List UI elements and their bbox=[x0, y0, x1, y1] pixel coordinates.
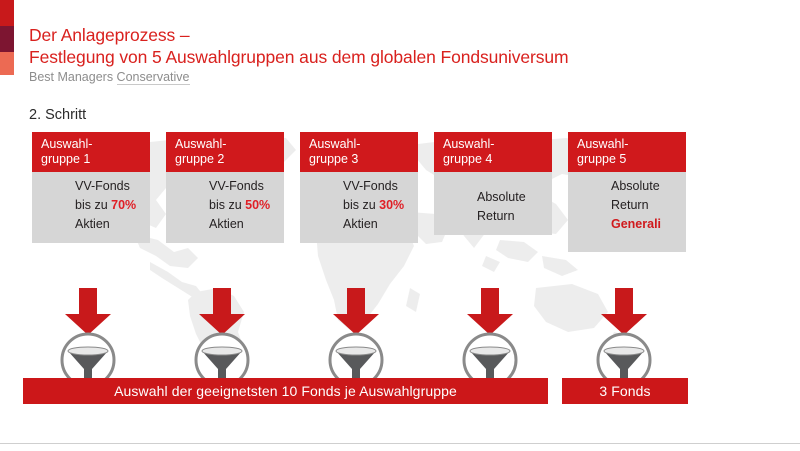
selection-group-header-5: Auswahl- gruppe 5 bbox=[568, 132, 686, 172]
selection-group-card-2[interactable]: Auswahl- gruppe 2 VV-Fonds bis zu 50% Ak… bbox=[166, 132, 284, 243]
page-subtitle: Best Managers Conservative bbox=[29, 70, 190, 85]
page-title: Der Anlageprozess – Festlegung von 5 Aus… bbox=[29, 24, 729, 68]
selection-group-body-5: Absolute Return Generali bbox=[568, 172, 686, 252]
edge-bar-segment-3 bbox=[0, 52, 14, 75]
selection-group-body-line3-3: Aktien bbox=[343, 215, 412, 234]
selection-group-body-line1-4: Absolute bbox=[477, 188, 546, 207]
step-label: 2. Schritt bbox=[29, 106, 86, 124]
brand-edge-bar bbox=[0, 0, 14, 75]
down-arrow-icon-5 bbox=[599, 288, 649, 336]
selection-group-card-4[interactable]: Auswahl- gruppe 4 Absolute Return bbox=[434, 132, 552, 235]
selection-group-header-2: Auswahl- gruppe 2 bbox=[166, 132, 284, 172]
selection-group-head-line1-4: Auswahl- bbox=[443, 137, 552, 152]
equity-share-value-2: 50% bbox=[245, 198, 270, 212]
selection-group-body-line1-1: VV-Fonds bbox=[75, 177, 144, 196]
selection-group-head-line2-3: gruppe 3 bbox=[309, 152, 418, 167]
edge-bar-segment-2 bbox=[0, 26, 14, 52]
body-line2-prefix-3: bis zu bbox=[343, 198, 379, 212]
selection-group-body-line3-2: Aktien bbox=[209, 215, 278, 234]
down-arrow-icon-3 bbox=[331, 288, 381, 336]
selection-group-body-line1-3: VV-Fonds bbox=[343, 177, 412, 196]
down-arrow-icon-1 bbox=[63, 288, 113, 336]
selection-group-card-1[interactable]: Auswahl- gruppe 1 VV-Fonds bis zu 70% Ak… bbox=[32, 132, 150, 243]
selection-group-head-line2-1: gruppe 1 bbox=[41, 152, 150, 167]
selection-group-body-line2-2: bis zu 50% bbox=[209, 196, 278, 215]
selection-group-body-2: VV-Fonds bis zu 50% Aktien bbox=[166, 172, 284, 243]
selection-group-body-line2-1: bis zu 70% bbox=[75, 196, 144, 215]
selection-group-head-line2-5: gruppe 5 bbox=[577, 152, 686, 167]
selection-group-body-line2-3: bis zu 30% bbox=[343, 196, 412, 215]
selection-group-header-3: Auswahl- gruppe 3 bbox=[300, 132, 418, 172]
page-subtitle-prefix: Best Managers bbox=[29, 70, 117, 84]
selection-group-head-line1-1: Auswahl- bbox=[41, 137, 150, 152]
body-line2-prefix-1: bis zu bbox=[75, 198, 111, 212]
selection-group-body-line3-1: Aktien bbox=[75, 215, 144, 234]
down-arrow-icon-2 bbox=[197, 288, 247, 336]
body-line2-prefix-2: bis zu bbox=[209, 198, 245, 212]
selection-group-card-5[interactable]: Auswahl- gruppe 5 Absolute Return Genera… bbox=[568, 132, 686, 252]
selection-group-header-4: Auswahl- gruppe 4 bbox=[434, 132, 552, 172]
selection-group-body-3: VV-Fonds bis zu 30% Aktien bbox=[300, 172, 418, 243]
selection-group-head-line1-2: Auswahl- bbox=[175, 137, 284, 152]
selection-group-header-1: Auswahl- gruppe 1 bbox=[32, 132, 150, 172]
selection-group-body-line2-5: Return bbox=[611, 196, 680, 215]
down-arrow-icon-4 bbox=[465, 288, 515, 336]
selection-group-body-4: Absolute Return bbox=[434, 172, 552, 235]
selection-group-body-line1-2: VV-Fonds bbox=[209, 177, 278, 196]
result-banner-secondary: 3 Fonds bbox=[562, 378, 688, 404]
result-banner-main: Auswahl der geeignetsten 10 Fonds je Aus… bbox=[23, 378, 548, 404]
selection-group-head-line1-3: Auswahl- bbox=[309, 137, 418, 152]
page-title-line-2: Festlegung von 5 Auswahlgruppen aus dem … bbox=[29, 46, 729, 68]
equity-share-value-1: 70% bbox=[111, 198, 136, 212]
slide-canvas: Der Anlageprozess – Festlegung von 5 Aus… bbox=[0, 0, 800, 451]
selection-group-head-line2-4: gruppe 4 bbox=[443, 152, 552, 167]
page-title-line-1: Der Anlageprozess – bbox=[29, 25, 190, 45]
selection-group-head-line1-5: Auswahl- bbox=[577, 137, 686, 152]
selection-group-head-line2-2: gruppe 2 bbox=[175, 152, 284, 167]
selection-group-body-line2-4: Return bbox=[477, 207, 546, 226]
edge-bar-segment-1 bbox=[0, 0, 14, 26]
generali-highlight-label: Generali bbox=[611, 215, 680, 234]
selection-group-card-3[interactable]: Auswahl- gruppe 3 VV-Fonds bis zu 30% Ak… bbox=[300, 132, 418, 243]
equity-share-value-3: 30% bbox=[379, 198, 404, 212]
selection-group-body-line1-5: Absolute bbox=[611, 177, 680, 196]
selection-group-body-1: VV-Fonds bis zu 70% Aktien bbox=[32, 172, 150, 243]
page-subtitle-emphasis: Conservative bbox=[117, 70, 190, 85]
slide-bottom-rule bbox=[0, 443, 800, 444]
